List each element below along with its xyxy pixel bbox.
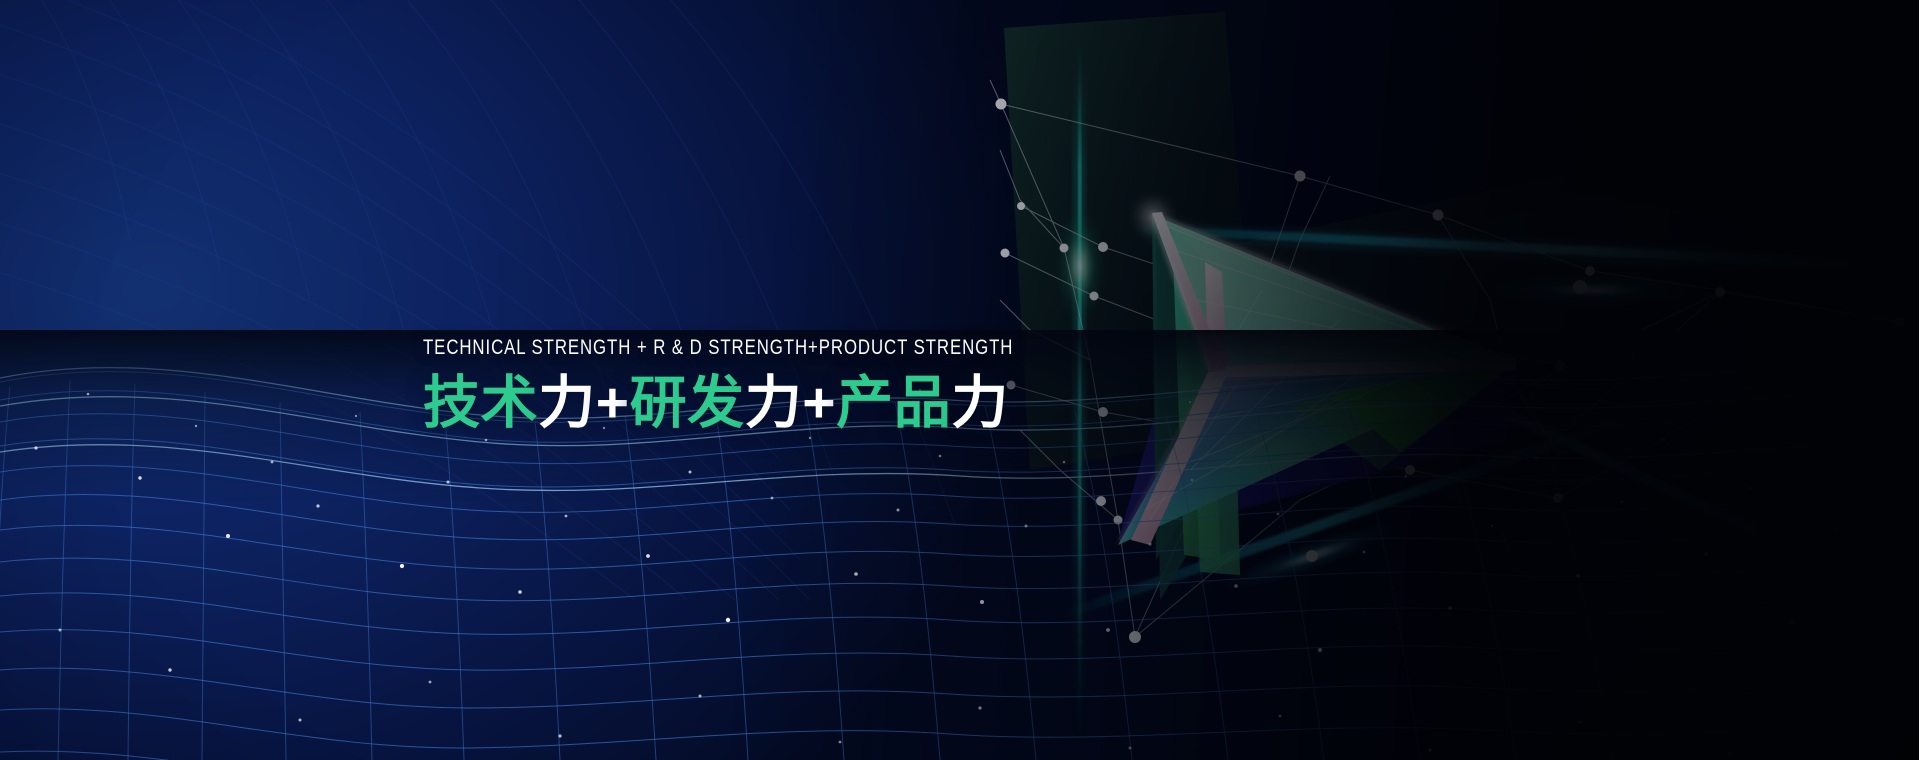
headline-block: TECHNICAL STRENGTH + R & D STRENGTH+PROD… [423,333,1161,438]
headline-seg-2: + [596,371,630,435]
headline-seg-0: 技术 [423,371,538,435]
headline-seg-5: + [802,371,836,435]
headline-seg-7: 力 [951,371,1009,435]
headline-seg-6: 产品 [836,371,951,435]
hero-banner: TECHNICAL STRENGTH + R & D STRENGTH+PROD… [0,0,1919,760]
headline-seg-1: 力 [538,371,596,435]
page-title: 技术力+研发力+产品力 [423,368,1161,438]
headline-seg-3: 研发 [630,371,745,435]
headline-seg-4: 力 [745,371,803,435]
eyebrow-text: TECHNICAL STRENGTH + R & D STRENGTH+PROD… [423,333,1013,363]
